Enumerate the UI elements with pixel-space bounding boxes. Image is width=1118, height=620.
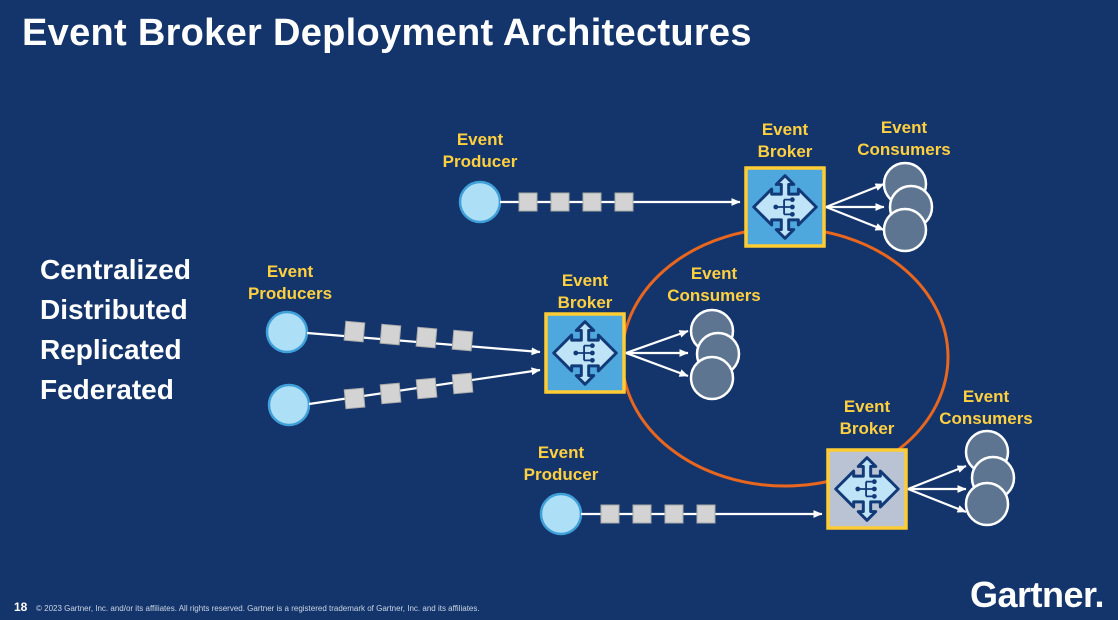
label-line: Event bbox=[733, 119, 837, 141]
flow-line bbox=[908, 466, 966, 489]
flow-line bbox=[826, 184, 884, 207]
label-middle-event-consumers: Event Consumers bbox=[650, 263, 778, 307]
event-message-square bbox=[452, 330, 473, 351]
event-message-square bbox=[344, 388, 365, 409]
event-message-square bbox=[416, 327, 437, 348]
label-line: Event bbox=[229, 261, 351, 283]
event-producer-node bbox=[541, 494, 581, 534]
label-line: Broker bbox=[815, 418, 919, 440]
event-message-square bbox=[380, 324, 401, 345]
slide-canvas: Event Broker Deployment Architectures Ce… bbox=[0, 0, 1118, 620]
event-message-square bbox=[697, 505, 715, 523]
label-line: Event bbox=[428, 129, 532, 151]
copyright-notice: © 2023 Gartner, Inc. and/or its affiliat… bbox=[36, 604, 480, 613]
page-number: 18 bbox=[14, 600, 27, 614]
label-line: Producer bbox=[428, 151, 532, 173]
flow-line bbox=[626, 353, 688, 376]
event-producer-node bbox=[269, 385, 309, 425]
label-line: Consumers bbox=[650, 285, 778, 307]
label-line: Broker bbox=[733, 141, 837, 163]
event-message-square bbox=[416, 378, 437, 399]
event-message-square bbox=[665, 505, 683, 523]
flow-line bbox=[826, 207, 884, 230]
label-top-event-producer: Event Producer bbox=[428, 129, 532, 173]
label-line: Event bbox=[815, 396, 919, 418]
label-bottom-event-consumers: Event Consumers bbox=[922, 386, 1050, 430]
event-message-square bbox=[380, 383, 401, 404]
label-top-event-broker: Event Broker bbox=[733, 119, 837, 163]
flow-line bbox=[908, 489, 966, 512]
label-line: Event bbox=[533, 270, 637, 292]
label-line: Event bbox=[840, 117, 968, 139]
gartner-logo: Gartner. bbox=[970, 574, 1104, 616]
label-line: Broker bbox=[533, 292, 637, 314]
label-middle-event-producers: Event Producers bbox=[229, 261, 351, 305]
flow-row-top bbox=[460, 163, 932, 251]
label-line: Producers bbox=[229, 283, 351, 305]
event-producer-node bbox=[267, 312, 307, 352]
label-line: Event bbox=[509, 442, 613, 464]
label-bottom-event-producer: Event Producer bbox=[509, 442, 613, 486]
flow-row-middle bbox=[267, 310, 739, 425]
label-line: Event bbox=[922, 386, 1050, 408]
event-consumer-node bbox=[691, 357, 733, 399]
label-bottom-event-broker: Event Broker bbox=[815, 396, 919, 440]
event-message-square bbox=[615, 193, 633, 211]
event-consumer-node bbox=[884, 209, 926, 251]
event-message-square bbox=[519, 193, 537, 211]
flow-line bbox=[626, 331, 688, 353]
label-middle-event-broker: Event Broker bbox=[533, 270, 637, 314]
label-line: Consumers bbox=[922, 408, 1050, 430]
event-message-square bbox=[551, 193, 569, 211]
label-top-event-consumers: Event Consumers bbox=[840, 117, 968, 161]
footer-bar: 18 © 2023 Gartner, Inc. and/or its affil… bbox=[0, 590, 1118, 620]
event-message-square bbox=[633, 505, 651, 523]
label-line: Event bbox=[650, 263, 778, 285]
label-line: Producer bbox=[509, 464, 613, 486]
event-producer-node bbox=[460, 182, 500, 222]
event-message-square bbox=[601, 505, 619, 523]
event-message-square bbox=[583, 193, 601, 211]
event-message-square bbox=[452, 373, 473, 394]
event-message-square bbox=[344, 321, 365, 342]
event-consumer-node bbox=[966, 483, 1008, 525]
label-line: Consumers bbox=[840, 139, 968, 161]
